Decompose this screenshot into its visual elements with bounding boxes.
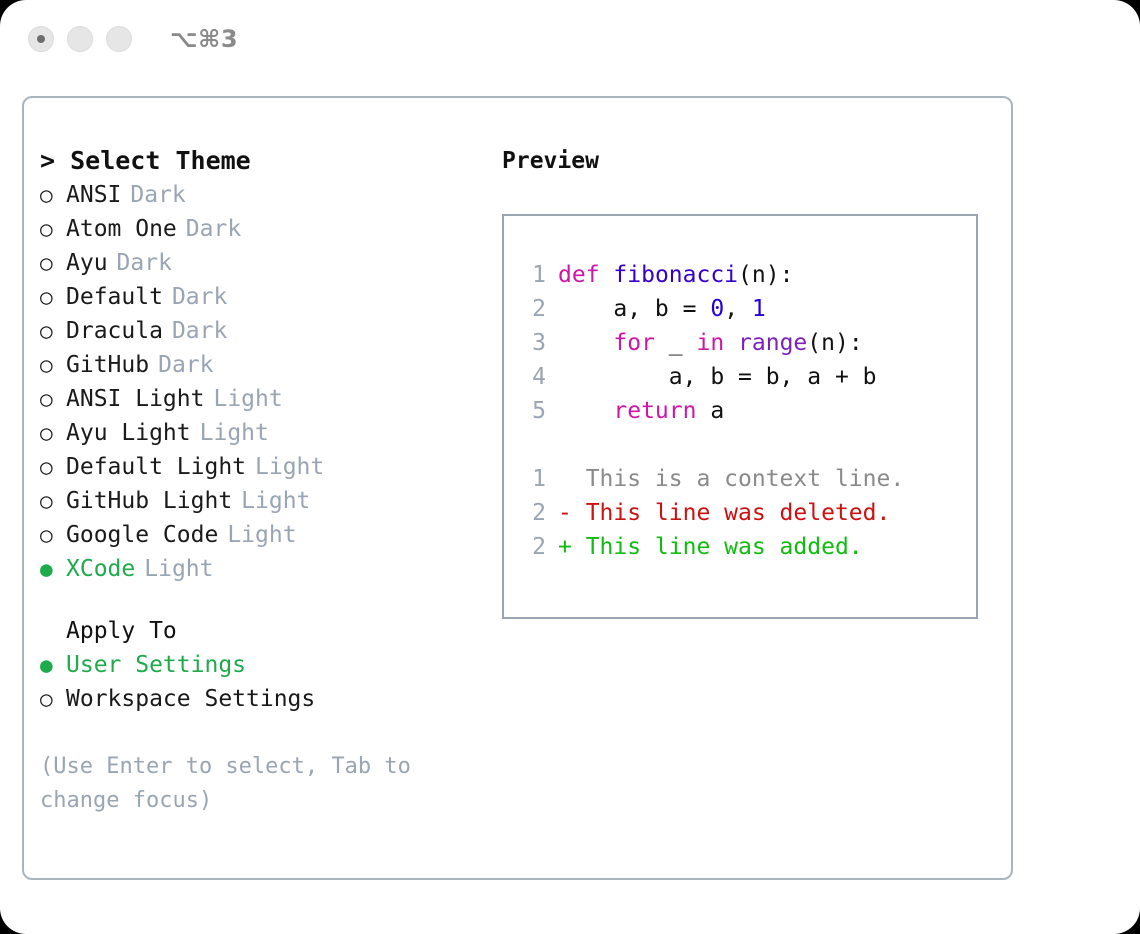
code-line: 5 return a [524, 394, 976, 428]
theme-option-kind: Light [144, 552, 213, 586]
theme-option-kind: Dark [186, 212, 241, 246]
code-token: return [613, 398, 696, 424]
theme-option-label: ANSI [66, 178, 121, 212]
line-number: 2 [524, 292, 546, 326]
theme-option-kind: Dark [172, 314, 227, 348]
apply-to-option-label: Workspace Settings [66, 682, 315, 716]
theme-option-label: Ayu [66, 246, 108, 280]
theme-option-kind: Dark [117, 246, 172, 280]
code-line: 3 for _ in range(n): [524, 326, 976, 360]
code-token: for [613, 330, 655, 356]
dot-2[interactable] [67, 26, 93, 52]
line-number: 1 [524, 462, 546, 496]
radio-unselected-icon: ○ [40, 314, 66, 348]
main-window: > Select Theme ○ANSIDark○Atom OneDark○Ay… [22, 96, 1013, 880]
theme-selector-panel: > Select Theme ○ANSIDark○Atom OneDark○Ay… [40, 144, 490, 818]
code-token [724, 330, 738, 356]
radio-unselected-icon: ○ [40, 484, 66, 518]
theme-option[interactable]: ○Ayu LightLight [40, 416, 490, 450]
code-line: 4 a, b = b, a + b [524, 360, 976, 394]
code-token: (n): [807, 330, 862, 356]
radio-unselected-icon: ○ [40, 682, 66, 716]
app-root: ⌥⌘3 > Select Theme ○ANSIDark○Atom OneDar… [0, 0, 1140, 934]
radio-selected-icon: ● [40, 552, 66, 586]
theme-option-kind: Light [227, 518, 296, 552]
apply-to-option[interactable]: ○Workspace Settings [40, 682, 490, 716]
diff-line: 1 This is a context line. [524, 462, 976, 496]
theme-option[interactable]: ○ANSI LightLight [40, 382, 490, 416]
code-token: fibonacci [613, 262, 738, 288]
theme-option-kind: Light [213, 382, 282, 416]
theme-option-kind: Dark [158, 348, 213, 382]
theme-option-label: Atom One [66, 212, 177, 246]
diff-line: 2+ This line was added. [524, 530, 976, 564]
code-token: a, b = b, a + b [558, 364, 877, 390]
theme-option-label: Ayu Light [66, 416, 191, 450]
code-diff-gap [524, 428, 976, 462]
window-controls [28, 26, 132, 52]
code-token: range [738, 330, 807, 356]
radio-unselected-icon: ○ [40, 246, 66, 280]
theme-option[interactable]: ○DefaultDark [40, 280, 490, 314]
theme-option-kind: Dark [130, 178, 185, 212]
line-number: 4 [524, 360, 546, 394]
radio-unselected-icon: ○ [40, 416, 66, 450]
radio-unselected-icon: ○ [40, 382, 66, 416]
code-token [558, 398, 613, 424]
code-token: in [696, 330, 724, 356]
preview-box: 1def fibonacci(n):2 a, b = 0, 13 for _ i… [502, 214, 978, 619]
code-token: This is a context line. [558, 466, 904, 492]
theme-option-label: ANSI Light [66, 382, 204, 416]
code-token: a, b = [558, 296, 710, 322]
line-number: 2 [524, 496, 546, 530]
theme-option-label: Dracula [66, 314, 163, 348]
radio-unselected-icon: ○ [40, 178, 66, 212]
radio-unselected-icon: ○ [40, 518, 66, 552]
theme-option-kind: Light [255, 450, 324, 484]
theme-option-kind: Light [200, 416, 269, 450]
theme-option[interactable]: ○Google CodeLight [40, 518, 490, 552]
theme-option-label: GitHub [66, 348, 149, 382]
apply-to-option[interactable]: ●User Settings [40, 648, 490, 682]
code-token [558, 330, 613, 356]
theme-option-label: GitHub Light [66, 484, 232, 518]
radio-unselected-icon: ○ [40, 212, 66, 246]
theme-option[interactable]: ○Atom OneDark [40, 212, 490, 246]
apply-to-list: ●User Settings○Workspace Settings [40, 648, 490, 716]
hint-spacer [40, 716, 490, 750]
theme-option[interactable]: ○AyuDark [40, 246, 490, 280]
dot-3[interactable] [106, 26, 132, 52]
code-token: (n): [738, 262, 793, 288]
radio-selected-icon: ● [40, 648, 66, 682]
radio-unselected-icon: ○ [40, 280, 66, 314]
section-spacer [40, 586, 490, 614]
code-token [600, 262, 614, 288]
theme-option-label: Google Code [66, 518, 218, 552]
theme-option-label: Default [66, 280, 163, 314]
theme-option-kind: Light [241, 484, 310, 518]
code-token: 1 [752, 296, 766, 322]
theme-option[interactable]: ○ANSIDark [40, 178, 490, 212]
diff-sample: 1 This is a context line.2- This line wa… [524, 462, 976, 564]
code-line: 1def fibonacci(n): [524, 258, 976, 292]
preview-panel: Preview 1def fibonacci(n):2 a, b = 0, 13… [502, 144, 992, 619]
window-content: > Select Theme ○ANSIDark○Atom OneDark○Ay… [24, 98, 1011, 878]
select-theme-prompt: > Select Theme [40, 144, 490, 178]
diff-line: 2- This line was deleted. [524, 496, 976, 530]
theme-option[interactable]: ○GitHubDark [40, 348, 490, 382]
line-number: 2 [524, 530, 546, 564]
line-number: 3 [524, 326, 546, 360]
line-number: 1 [524, 258, 546, 292]
code-token: a [696, 398, 724, 424]
code-sample: 1def fibonacci(n):2 a, b = 0, 13 for _ i… [524, 258, 976, 428]
code-token: - This line was deleted. [558, 500, 890, 526]
theme-option-label: Default Light [66, 450, 246, 484]
code-token: _ [655, 330, 697, 356]
theme-option[interactable]: ○GitHub LightLight [40, 484, 490, 518]
apply-to-label: Apply To [40, 614, 490, 648]
theme-option[interactable]: ○Default LightLight [40, 450, 490, 484]
theme-option-label: XCode [66, 552, 135, 586]
shortcut-label: ⌥⌘3 [170, 25, 238, 53]
code-token: , [724, 296, 752, 322]
title-bar: ⌥⌘3 [0, 0, 1140, 78]
radio-unselected-icon: ○ [40, 450, 66, 484]
code-line: 2 a, b = 0, 1 [524, 292, 976, 326]
theme-option[interactable]: ●XCodeLight [40, 552, 490, 586]
theme-option-kind: Dark [172, 280, 227, 314]
radio-unselected-icon: ○ [40, 348, 66, 382]
theme-list: ○ANSIDark○Atom OneDark○AyuDark○DefaultDa… [40, 178, 490, 586]
apply-to-option-label: User Settings [66, 648, 246, 682]
code-token: + This line was added. [558, 534, 863, 560]
theme-option[interactable]: ○DraculaDark [40, 314, 490, 348]
preview-title: Preview [502, 144, 992, 178]
code-token: def [558, 262, 600, 288]
line-number: 5 [524, 394, 546, 428]
code-token: 0 [710, 296, 724, 322]
keyboard-hint: (Use Enter to select, Tab to change focu… [40, 750, 452, 818]
record-dot-core [37, 35, 45, 43]
record-dot[interactable] [28, 26, 54, 52]
